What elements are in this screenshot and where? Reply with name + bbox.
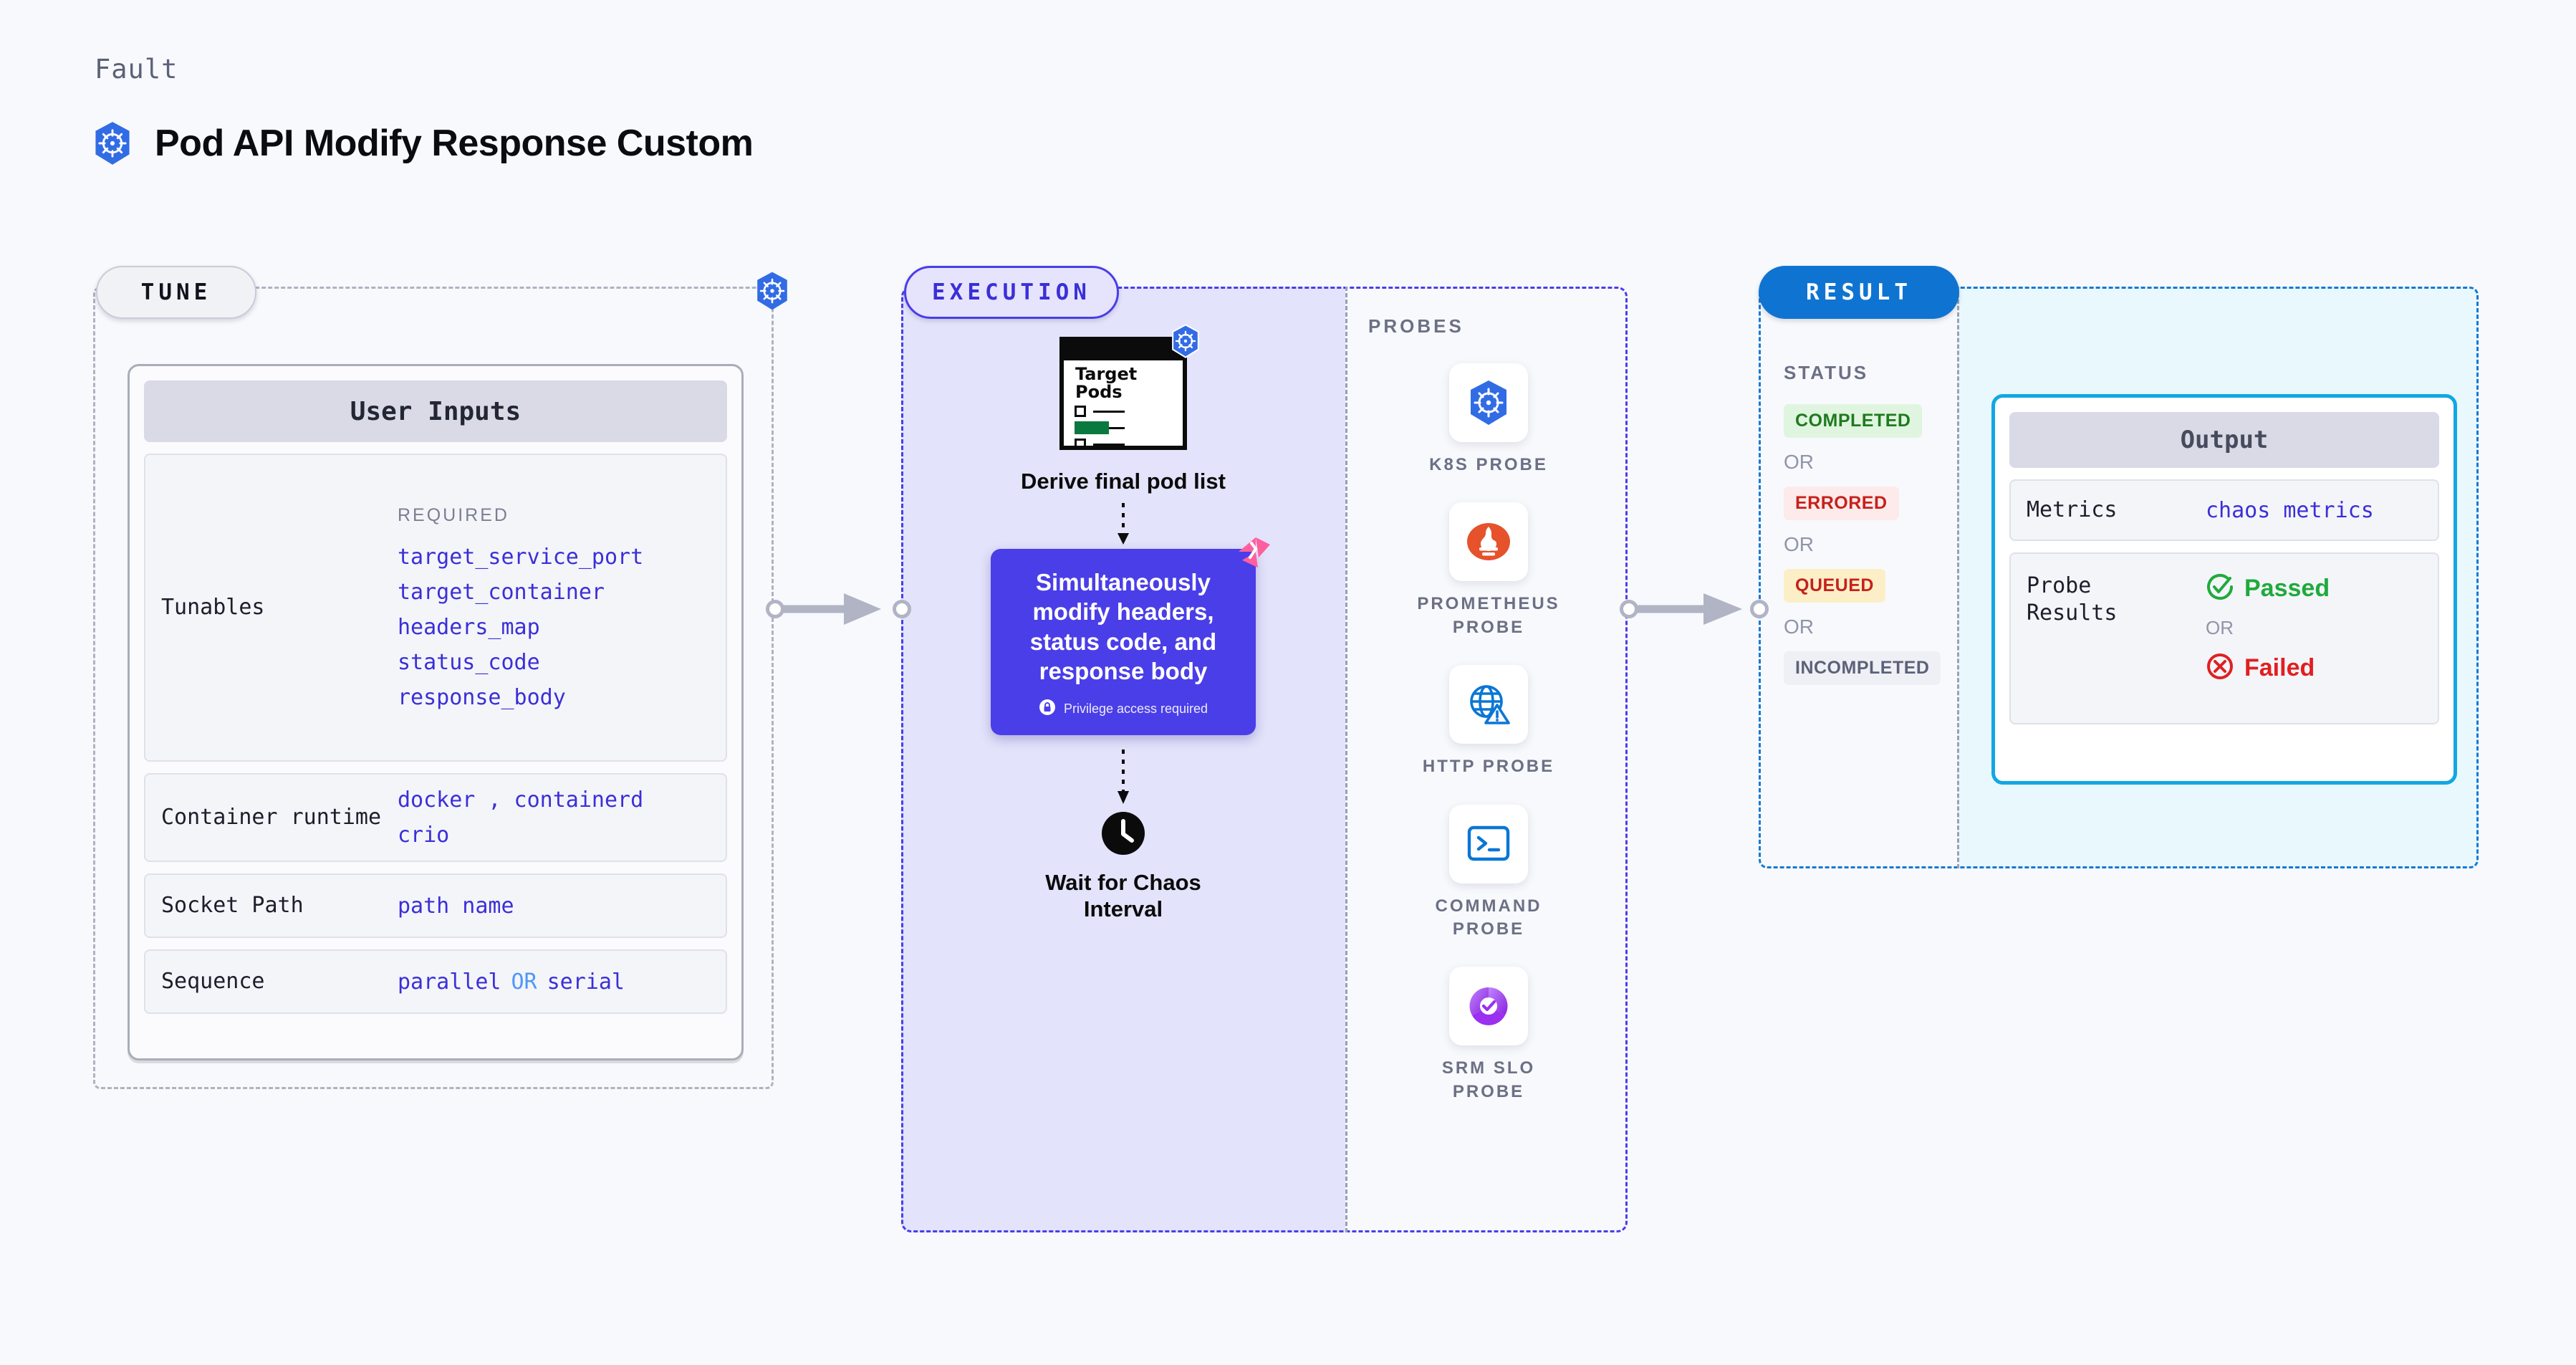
derive-pod-list-caption: Derive final pod list [901, 469, 1345, 494]
required-label: REQUIRED [398, 505, 643, 526]
output-probe-results-row: ProbeResults Passed OR [2009, 552, 2439, 724]
diagram-canvas: Fault Pod API Modify Response Cu [0, 0, 2576, 1365]
metrics-key: Metrics [2027, 497, 2206, 524]
prometheus-icon [1449, 502, 1528, 581]
kubernetes-icon [1170, 324, 1201, 362]
status-title: STATUS [1784, 362, 1948, 384]
container-runtime-row: Container runtime docker , containerd cr… [144, 773, 727, 862]
action-text-line-2: modify headers, [1006, 597, 1240, 626]
status-or-2: OR [1784, 533, 1814, 556]
probe-passed-label: Passed [2244, 575, 2330, 603]
privilege-note-label: Privilege access required [1064, 701, 1208, 717]
socket-path-value[interactable]: path name [398, 894, 514, 919]
x-circle-icon [2206, 652, 2234, 684]
tune-pill[interactable]: TUNE [96, 266, 256, 319]
runtime-crio[interactable]: crio [398, 823, 643, 848]
tunables-row: Tunables REQUIRED target_service_port ta… [144, 454, 727, 762]
kubernetes-icon [754, 271, 791, 315]
connector-node-execution [893, 600, 911, 618]
result-output-divider [1957, 287, 1959, 868]
target-pods-label: Target Pods [1075, 365, 1137, 401]
probe-label-k8s: K8S PROBE [1417, 454, 1560, 476]
execution-probes-divider [1345, 287, 1347, 1232]
action-text-line-3: status code, and [1006, 627, 1240, 656]
wait-caption-line-1: Wait for Chaos [901, 869, 1345, 896]
probe-failed-label: Failed [2244, 654, 2315, 682]
output-card: Output Metrics chaos metrics ProbeResult… [1991, 394, 2457, 785]
sequence-values: parallel OR serial [398, 969, 625, 995]
execution-pill[interactable]: EXECUTION [904, 266, 1119, 319]
probe-results-or: OR [2206, 617, 2330, 639]
socket-path-key: Socket Path [161, 892, 398, 919]
runtime-docker-containerd[interactable]: docker , containerd [398, 787, 643, 813]
clock-icon [1101, 846, 1145, 858]
container-runtime-key: Container runtime [161, 804, 398, 831]
sequence-key: Sequence [161, 968, 398, 995]
action-text-line-4: response body [1006, 656, 1240, 686]
tunable-target-service-port[interactable]: target_service_port [398, 545, 643, 570]
page-title-row: Pod API Modify Response Custom [92, 120, 753, 166]
probe-label-prometheus: PROMETHEUS PROBE [1417, 593, 1560, 639]
probe-item-command[interactable]: COMMAND PROBE [1417, 805, 1560, 942]
globe-warning-icon [1449, 665, 1528, 744]
container-runtime-values: docker , containerd crio [398, 787, 643, 848]
action-card[interactable]: Simultaneously modify headers, status co… [991, 549, 1256, 735]
wait-caption-line-2: Interval [901, 896, 1345, 922]
socket-path-row: Socket Path path name [144, 873, 727, 938]
sequence-row: Sequence parallel OR serial [144, 949, 727, 1014]
connector-node-probes [1620, 600, 1638, 618]
status-badge-errored: ERRORED [1784, 487, 1899, 520]
tunable-target-container[interactable]: target_container [398, 580, 643, 605]
result-pill[interactable]: RESULT [1759, 266, 1959, 319]
probe-results-values: Passed OR Failed [2206, 573, 2330, 684]
document-green-bar [1075, 421, 1109, 434]
status-or-1: OR [1784, 451, 1814, 474]
sequence-parallel[interactable]: parallel [398, 969, 501, 995]
page-title: Pod API Modify Response Custom [155, 122, 753, 165]
fault-kicker: Fault [95, 54, 178, 85]
kubernetes-icon [92, 120, 133, 166]
status-list: COMPLETED OR ERRORED OR QUEUED OR INCOMP… [1784, 404, 1948, 685]
connector-node-result [1750, 600, 1769, 618]
user-inputs-title: User Inputs [144, 380, 727, 442]
execution-flow: Target Pods [901, 337, 1345, 922]
probe-item-prometheus[interactable]: PROMETHEUS PROBE [1417, 502, 1560, 639]
probe-item-srm-slo[interactable]: SRM SLO PROBE [1417, 967, 1560, 1103]
document-titlebar [1063, 340, 1183, 360]
connector-node-tune [766, 600, 784, 618]
probe-item-k8s[interactable]: K8S PROBE [1417, 363, 1560, 476]
slo-donut-icon [1449, 967, 1528, 1045]
action-text-line-1: Simultaneously [1006, 567, 1240, 597]
output-title: Output [2009, 412, 2439, 468]
tunable-response-body[interactable]: response_body [398, 685, 643, 710]
wait-for-chaos-block: Wait for Chaos Interval [901, 811, 1345, 922]
probe-item-http[interactable]: HTTP PROBE [1417, 665, 1560, 778]
tunables-key: Tunables [161, 594, 398, 621]
output-metrics-row: Metrics chaos metrics [2009, 479, 2439, 541]
target-pods-document-icon: Target Pods [1059, 337, 1187, 450]
sequence-serial[interactable]: serial [547, 969, 625, 995]
tunables-values: REQUIRED target_service_port target_cont… [398, 505, 643, 710]
tunable-headers-map[interactable]: headers_map [398, 615, 643, 640]
status-badge-queued: QUEUED [1784, 569, 1885, 603]
flow-arrow-down-1 [1115, 503, 1132, 546]
probe-label-command: COMMAND PROBE [1417, 895, 1560, 942]
probes-column: PROBES K8S PROBE [1352, 315, 1625, 1103]
user-inputs-card: User Inputs Tunables REQUIRED target_ser… [128, 364, 744, 1060]
probes-title: PROBES [1368, 315, 1625, 337]
socket-path-values: path name [398, 894, 514, 919]
kubernetes-icon [1449, 363, 1528, 442]
terminal-icon [1449, 805, 1528, 883]
probe-label-http: HTTP PROBE [1417, 755, 1560, 778]
probe-label-srm-slo: SRM SLO PROBE [1417, 1057, 1560, 1103]
litmus-chaos-icon [1234, 533, 1272, 574]
check-circle-icon [2206, 573, 2234, 604]
status-badge-completed: COMPLETED [1784, 404, 1922, 438]
status-badge-incompleted: INCOMPLETED [1784, 651, 1941, 685]
status-or-3: OR [1784, 616, 1814, 638]
metrics-value[interactable]: chaos metrics [2206, 498, 2374, 523]
status-column: STATUS COMPLETED OR ERRORED OR QUEUED OR… [1784, 362, 1948, 685]
lock-icon [1039, 699, 1056, 719]
probe-results-key: ProbeResults [2027, 573, 2206, 626]
connector-tune-execution [766, 588, 910, 631]
sequence-or: OR [511, 969, 537, 995]
connector-execution-result [1620, 588, 1771, 631]
tunable-status-code[interactable]: status_code [398, 650, 643, 675]
flow-arrow-down-2 [1115, 749, 1132, 805]
privilege-note-row: Privilege access required [1006, 699, 1240, 719]
